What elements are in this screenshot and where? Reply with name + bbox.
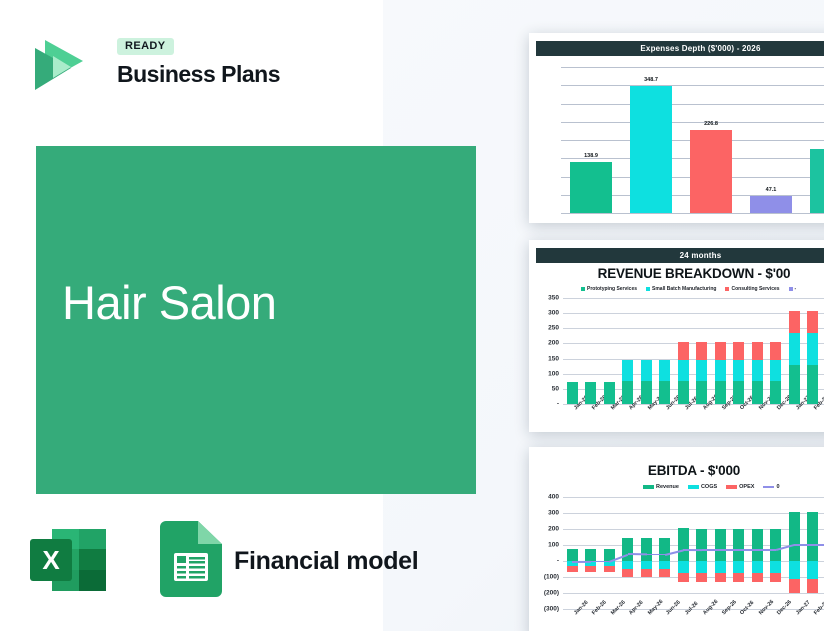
bar-seg-2-13 (807, 311, 818, 333)
zero-line-seg-1 (591, 561, 610, 563)
bar-seg-1-3 (622, 360, 633, 381)
bar-seg-0-11 (770, 529, 781, 561)
gridline-1 (563, 313, 824, 314)
zero-line-seg-12 (794, 544, 813, 546)
bar-seg-1-8 (715, 360, 726, 381)
gridline-0 (563, 497, 824, 498)
bar-seg-1-12 (789, 561, 800, 579)
brand-title: Business Plans (117, 62, 280, 87)
gridline-4 (563, 359, 824, 360)
bar-seg-0-0 (567, 382, 578, 404)
bar-seg-1-5 (659, 360, 670, 381)
gridline-6 (563, 389, 824, 390)
legend-swatch-0 (643, 485, 654, 489)
bar-seg-0-0 (567, 549, 578, 561)
bar-label-1: 348.7 (630, 77, 672, 83)
bar-seg-1-11 (770, 561, 781, 573)
ebitda-legend: RevenueCOGSOPEX0 (643, 484, 780, 490)
gridline-1 (561, 85, 824, 86)
legend-item-0: Prototyping Services (581, 286, 637, 292)
bar-seg-1-10 (752, 561, 763, 573)
bar-seg-0-10 (752, 381, 763, 404)
bar-seg-1-12 (789, 333, 800, 365)
bar-seg-2-3 (622, 569, 633, 576)
bar-3 (750, 196, 792, 213)
x-tick-11: Dec-26 (776, 599, 793, 616)
bar-seg-2-6 (678, 573, 689, 582)
bar-seg-2-11 (770, 573, 781, 582)
microsoft-excel-icon: X (30, 529, 106, 591)
bar-seg-2-6 (678, 342, 689, 360)
x-tick-0: Jan-26 (573, 600, 590, 617)
bar-seg-1-8 (715, 561, 726, 573)
y-tick-7: (300) (531, 606, 559, 613)
legend-swatch-2 (726, 485, 737, 489)
bar-seg-0-3 (622, 538, 633, 561)
bar-seg-2-10 (752, 342, 763, 360)
bar-seg-0-11 (770, 381, 781, 404)
y-tick-0: 400 (531, 494, 559, 501)
gridline-6 (563, 593, 824, 594)
bar-seg-2-7 (696, 342, 707, 360)
legend-swatch-3 (789, 287, 793, 291)
bar-label-0: 138.9 (570, 153, 612, 159)
bar-seg-2-9 (733, 573, 744, 582)
x-tick-12: Jan-27 (795, 600, 812, 617)
legend-label-1: COGS (701, 484, 717, 490)
bar-seg-2-13 (807, 579, 818, 594)
legend-item-3: 0 (763, 484, 779, 490)
chart-card-ebitda[interactable]: EBITDA - $'000 RevenueCOGSOPEX0 40030020… (529, 447, 824, 631)
gridline-1 (563, 513, 824, 514)
legend-label-3: 0 (776, 484, 779, 490)
legend-label-3: - (795, 286, 797, 292)
ebitda-chart-title: EBITDA - $'000 (529, 463, 824, 478)
legend-item-2: Consulting Services (725, 286, 779, 292)
y-tick-5: 100 (533, 370, 559, 377)
bar-seg-1-10 (752, 360, 763, 381)
bar-seg-0-1 (585, 549, 596, 561)
y-tick-2: 250 (533, 325, 559, 332)
x-tick-4: May-26 (647, 599, 664, 616)
zero-line-seg-9 (739, 549, 758, 551)
bar-seg-1-9 (733, 360, 744, 381)
gridline-0 (561, 67, 824, 68)
bar-seg-0-9 (733, 381, 744, 404)
legend-item-3: - (789, 286, 797, 292)
bar-0 (570, 162, 612, 213)
y-tick-6: (200) (531, 590, 559, 597)
chart-card-revenue[interactable]: 24 months REVENUE BREAKDOWN - $'00 Proto… (529, 240, 824, 432)
bar-seg-2-11 (770, 342, 781, 360)
bar-seg-1-9 (733, 561, 744, 573)
brand-header: READY Business Plans (25, 28, 355, 100)
bar-seg-1-4 (641, 360, 652, 381)
legend-swatch-1 (646, 287, 650, 291)
bar-seg-1-13 (807, 561, 818, 579)
bar-seg-1-5 (659, 561, 670, 569)
gridline-5 (563, 577, 824, 578)
legend-label-0: Revenue (656, 484, 679, 490)
revenue-plot-area: 35030025020015010050-Jan-26Feb-26Mar-26A… (563, 298, 824, 404)
google-sheets-icon (160, 521, 222, 597)
bar-seg-0-4 (641, 381, 652, 404)
bar-label-2: 226.8 (690, 121, 732, 127)
legend-label-1: Small Batch Manufacturing (652, 286, 716, 292)
bar-label-4: 176.5 (810, 140, 824, 146)
bar-seg-2-5 (659, 569, 670, 576)
legend-swatch-2 (725, 287, 729, 291)
y-tick-2: 200 (531, 526, 559, 533)
legend-label-2: OPEX (739, 484, 754, 490)
legend-item-1: COGS (688, 484, 717, 490)
y-tick-5: (100) (531, 574, 559, 581)
revenue-chart-header: 24 months (536, 248, 824, 263)
revenue-legend: Prototyping ServicesSmall Batch Manufact… (581, 286, 796, 292)
legend-swatch-1 (688, 485, 699, 489)
zero-line-seg-8 (720, 549, 739, 551)
bar-1 (630, 86, 672, 213)
gridline-2 (561, 104, 824, 105)
gridline-5 (563, 374, 824, 375)
bar-seg-2-0 (567, 566, 578, 572)
expenses-chart-header: Expenses Depth ($'000) - 2026 (536, 41, 824, 56)
bar-seg-0-12 (789, 365, 800, 404)
gridline-2 (563, 328, 824, 329)
hero-block: Hair Salon (36, 146, 476, 494)
bar-seg-0-13 (807, 365, 818, 404)
bar-seg-2-1 (585, 566, 596, 572)
bar-seg-2-12 (789, 579, 800, 594)
bar-seg-1-7 (696, 561, 707, 573)
legend-swatch-3 (763, 486, 774, 488)
y-tick-7: - (533, 401, 559, 408)
bar-seg-1-6 (678, 561, 689, 573)
bar-seg-0-2 (604, 382, 615, 404)
zero-line-seg-4 (646, 554, 665, 556)
bar-seg-2-9 (733, 342, 744, 360)
zero-line-seg-10 (757, 549, 776, 551)
zero-line-seg-0 (572, 561, 591, 563)
bar-4 (810, 149, 824, 213)
bar-seg-1-6 (678, 360, 689, 381)
bar-seg-0-13 (807, 512, 818, 561)
legend-item-1: Small Batch Manufacturing (646, 286, 716, 292)
y-tick-0: 350 (533, 295, 559, 302)
bar-seg-0-7 (696, 381, 707, 404)
zero-line-seg-13 (813, 544, 824, 546)
y-tick-6: 50 (533, 385, 559, 392)
bar-seg-0-1 (585, 382, 596, 404)
chart-card-expenses[interactable]: Expenses Depth ($'000) - 2026 138.9348.7… (529, 33, 824, 223)
bar-seg-2-4 (641, 569, 652, 576)
bar-seg-2-10 (752, 573, 763, 582)
footer-label: Financial model (234, 547, 418, 576)
bar-seg-0-5 (659, 381, 670, 404)
y-tick-3: 100 (531, 542, 559, 549)
x-tick-3: Apr-26 (628, 600, 645, 617)
x-tick-8: Sep-26 (721, 599, 738, 616)
x-tick-7: Aug-26 (702, 599, 719, 616)
bar-seg-0-7 (696, 529, 707, 561)
bar-seg-2-2 (604, 566, 615, 572)
legend-label-0: Prototyping Services (587, 286, 637, 292)
bar-seg-1-13 (807, 333, 818, 365)
ebitda-plot-area: 400300200100-(100)(200)(300)Jan-26Feb-26… (563, 497, 824, 609)
legend-swatch-0 (581, 287, 585, 291)
y-tick-4: - (531, 558, 559, 565)
x-tick-1: Feb-26 (591, 599, 608, 616)
bar-seg-1-7 (696, 360, 707, 381)
ready-badge: READY (117, 38, 174, 55)
bar-label-3: 47.1 (750, 187, 792, 193)
x-tick-10: Nov-26 (758, 599, 775, 616)
bar-seg-0-12 (789, 512, 800, 561)
bar-seg-1-4 (641, 561, 652, 569)
legend-item-2: OPEX (726, 484, 754, 490)
expenses-plot-area: 138.9348.7226.847.1176.5 (561, 67, 824, 213)
bar-seg-0-8 (715, 381, 726, 404)
bar-seg-0-9 (733, 529, 744, 561)
gridline-0 (563, 298, 824, 299)
bar-seg-2-8 (715, 573, 726, 582)
bar-seg-0-6 (678, 381, 689, 404)
bar-seg-1-3 (622, 561, 633, 569)
y-tick-1: 300 (533, 310, 559, 317)
bar-seg-0-3 (622, 381, 633, 404)
x-tick-2: Mar-26 (610, 599, 627, 616)
bar-seg-0-6 (678, 528, 689, 561)
play-triangles-logo-icon (25, 30, 89, 98)
y-tick-1: 300 (531, 510, 559, 517)
gridline-3 (563, 343, 824, 344)
legend-label-2: Consulting Services (731, 286, 779, 292)
bar-seg-1-11 (770, 360, 781, 381)
bar-seg-2-12 (789, 311, 800, 333)
y-tick-3: 200 (533, 340, 559, 347)
gridline-8 (561, 213, 824, 214)
legend-item-0: Revenue (643, 484, 679, 490)
y-tick-4: 150 (533, 355, 559, 362)
bar-seg-0-8 (715, 529, 726, 561)
revenue-chart-title: REVENUE BREAKDOWN - $'00 (529, 266, 824, 281)
brand-text-block: READY Business Plans (117, 36, 280, 87)
x-tick-5: Jun-26 (665, 599, 682, 616)
bar-seg-0-10 (752, 529, 763, 561)
bar-seg-2-7 (696, 573, 707, 582)
bar-seg-0-5 (659, 538, 670, 561)
bar-seg-0-4 (641, 538, 652, 561)
gridline-2 (563, 529, 824, 530)
svg-text:X: X (42, 545, 60, 575)
bar-seg-2-8 (715, 342, 726, 360)
bar-2 (690, 130, 732, 213)
hero-title: Hair Salon (62, 279, 276, 326)
x-tick-13: Feb-27 (813, 599, 824, 616)
zero-line-seg-7 (702, 549, 721, 551)
